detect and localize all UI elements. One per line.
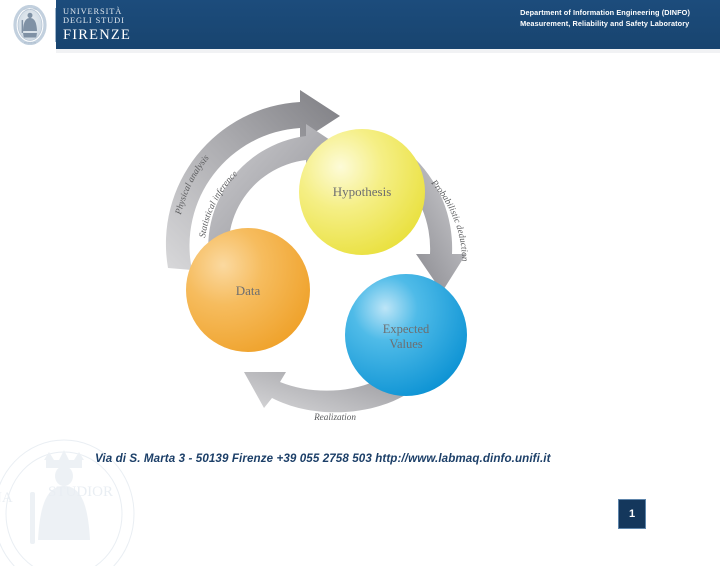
svg-text:INA: INA <box>0 490 13 506</box>
svg-text:STUDIORUM: STUDIORUM <box>24 42 37 44</box>
node-data-label: Data <box>236 283 261 298</box>
header-underline-strip <box>56 49 720 53</box>
scientific-method-cycle-diagram: Hypothesis Data Expected Values Physical… <box>160 90 500 435</box>
wordmark-line-1: UNIVERSITÀ <box>63 7 131 16</box>
node-expected-values: Expected Values <box>345 274 467 396</box>
department-line-1: Department of Information Engineering (D… <box>520 7 690 18</box>
footer-address: Via di S. Marta 3 - 50139 Firenze +39 05… <box>95 452 551 465</box>
page-number-badge: 1 <box>618 499 646 529</box>
arrow-label-realization: Realization <box>313 412 356 422</box>
university-crest-icon: ALMA MATER STUDIORUM <box>12 5 48 45</box>
svg-text:ALMA MATER: ALMA MATER <box>23 8 37 11</box>
node-hypothesis-label: Hypothesis <box>333 184 392 199</box>
node-hypothesis: Hypothesis <box>299 129 425 255</box>
node-expected-values-label-line1: Expected <box>383 322 430 336</box>
logo-divider <box>55 8 56 42</box>
department-line-2: Measurement, Reliability and Safety Labo… <box>520 18 690 29</box>
university-wordmark: UNIVERSITÀ DEGLI STUDI FIRENZE <box>63 7 131 43</box>
university-logo: ALMA MATER STUDIORUM UNIVERSITÀ DEGLI ST… <box>12 4 131 46</box>
node-data: Data <box>186 228 310 352</box>
wordmark-line-3: FIRENZE <box>63 27 131 43</box>
node-expected-values-label-line2: Values <box>389 337 422 351</box>
wordmark-line-2: DEGLI STUDI <box>63 16 131 25</box>
svg-text:STUDIOR: STUDIOR <box>48 484 113 500</box>
department-heading: Department of Information Engineering (D… <box>520 7 690 30</box>
